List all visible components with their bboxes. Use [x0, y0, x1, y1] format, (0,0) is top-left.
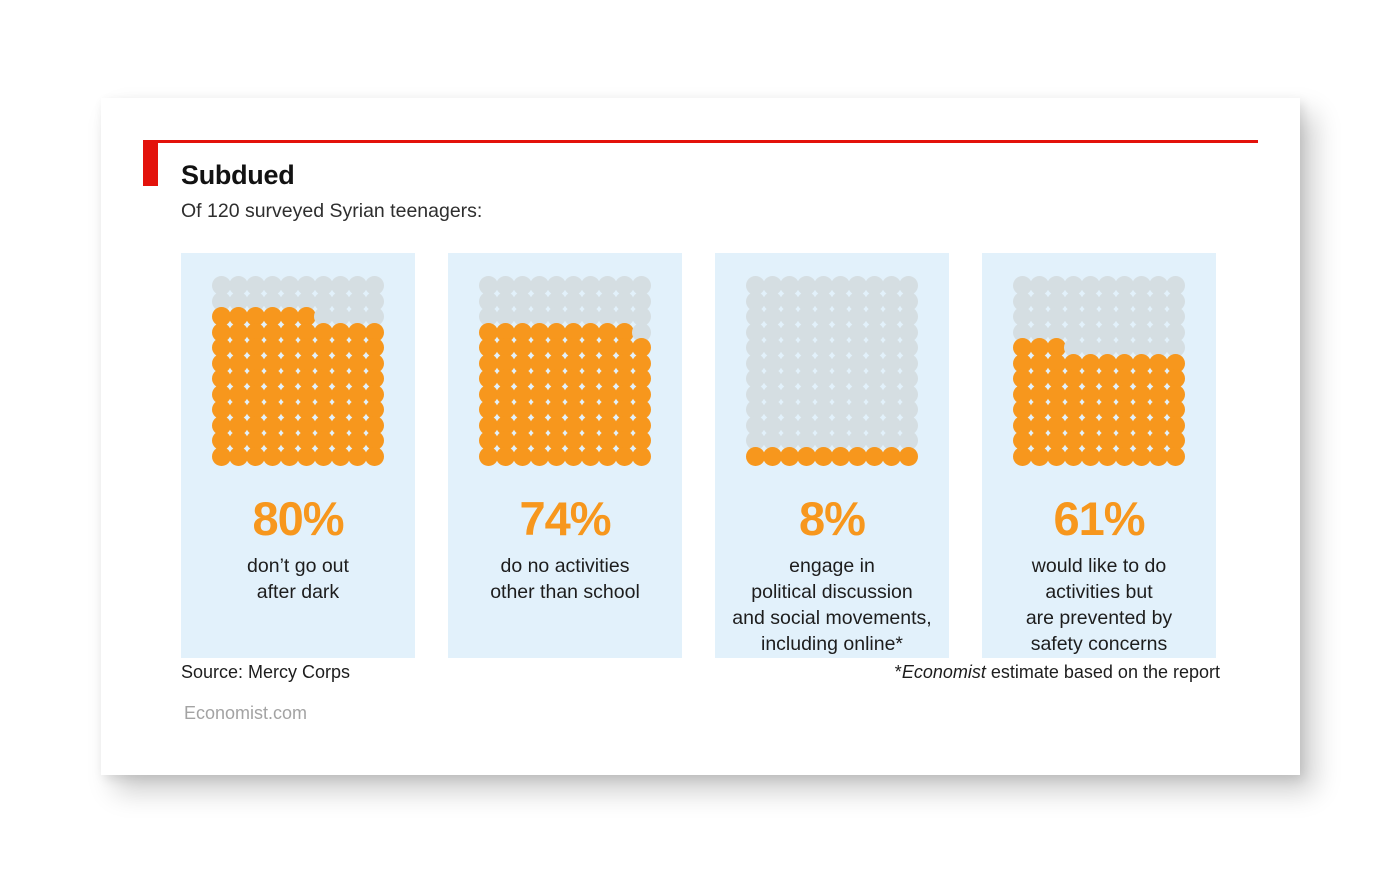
infographic-card: Subdued Of 120 surveyed Syrian teenagers…	[101, 98, 1300, 775]
page-title: Subdued	[181, 160, 294, 191]
footer-row: Source: Mercy Corps *Economist estimate …	[181, 662, 1220, 688]
stat-panel: 80%don’t go out after dark	[181, 253, 415, 658]
panel-value: 80%	[252, 495, 343, 542]
source-note: Source: Mercy Corps	[181, 662, 350, 683]
footnote-publication: Economist	[902, 662, 986, 682]
footnote-asterisk: *	[895, 662, 902, 682]
panel-value: 8%	[799, 495, 865, 542]
dot-filled	[899, 447, 918, 466]
panel-value: 74%	[519, 495, 610, 542]
panel-caption: don’t go out after dark	[241, 554, 355, 606]
panel-caption: do no activities other than school	[484, 554, 646, 606]
stat-panel: 8%engage in political discussion and soc…	[715, 253, 949, 658]
stat-panel: 61%would like to do activities but are p…	[982, 253, 1216, 658]
panel-caption: engage in political discussion and socia…	[726, 554, 937, 658]
dot-matrix	[1014, 278, 1184, 464]
dot-filled	[365, 447, 384, 466]
dot-filled	[632, 447, 651, 466]
chart-footer: Source: Mercy Corps *Economist estimate …	[181, 662, 1220, 688]
dot-matrix	[213, 278, 383, 464]
dot-filled	[1166, 447, 1185, 466]
brand-mark: Economist.com	[184, 703, 307, 724]
panel-value: 61%	[1053, 495, 1144, 542]
footnote: *Economist estimate based on the report	[895, 662, 1220, 683]
header-top-rule	[143, 140, 1258, 143]
header-accent-block	[143, 140, 158, 186]
chart-subtitle: Of 120 surveyed Syrian teenagers:	[181, 200, 482, 223]
dot-matrix	[480, 278, 650, 464]
footnote-text: estimate based on the report	[986, 662, 1220, 682]
panel-group: 80%don’t go out after dark74%do no activ…	[181, 253, 1224, 658]
dot-matrix	[747, 278, 917, 464]
stat-panel: 74%do no activities other than school	[448, 253, 682, 658]
panel-caption: would like to do activities but are prev…	[1020, 554, 1178, 658]
